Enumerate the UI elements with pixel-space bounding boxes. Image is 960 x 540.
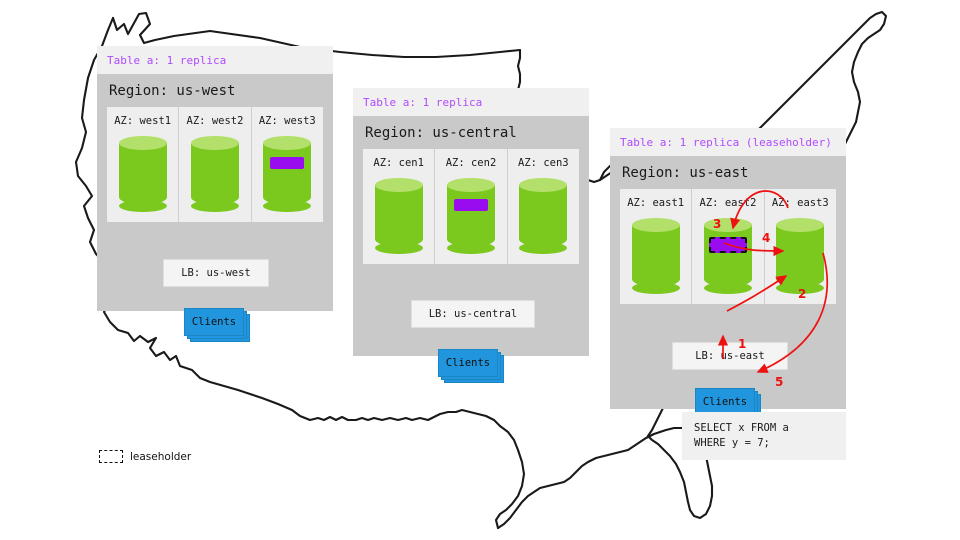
- panel-body-us-west: Region: us-west AZ: west1 AZ: west2 AZ: …: [97, 74, 333, 311]
- diagram-canvas: Table a: 1 replica Region: us-west AZ: w…: [0, 0, 960, 540]
- az-cen3[interactable]: AZ: cen3: [508, 149, 579, 264]
- az-east2[interactable]: AZ: east2: [692, 189, 764, 304]
- region-panel-us-central: Table a: 1 replica Region: us-central AZ…: [353, 88, 589, 356]
- node-cylinder-icon: [704, 218, 752, 294]
- region-label-us-east: Region: us-east: [610, 156, 846, 189]
- az-west1[interactable]: AZ: west1: [107, 107, 179, 222]
- az-label: AZ: west3: [259, 115, 316, 127]
- az-label: AZ: west1: [114, 115, 171, 127]
- panel-body-us-east: Region: us-east AZ: east1 AZ: east2: [610, 156, 846, 409]
- az-label: AZ: cen3: [518, 157, 569, 169]
- node-cylinder-icon: [519, 178, 567, 254]
- leaseholder-replica-marker: [709, 237, 747, 253]
- node-cylinder-icon: [191, 136, 239, 212]
- panel-title-us-central: Table a: 1 replica: [353, 88, 589, 116]
- region-panel-us-west: Table a: 1 replica Region: us-west AZ: w…: [97, 46, 333, 311]
- panel-title-us-east: Table a: 1 replica (leaseholder): [610, 128, 846, 156]
- az-label: AZ: cen1: [373, 157, 424, 169]
- replica-marker: [454, 199, 488, 211]
- load-balancer-us-east[interactable]: LB: us-east: [672, 342, 788, 370]
- az-label: AZ: east3: [772, 197, 829, 209]
- load-balancer-us-west[interactable]: LB: us-west: [163, 259, 269, 287]
- clients-label: Clients: [438, 349, 498, 377]
- node-cylinder-icon: [119, 136, 167, 212]
- clients-us-west[interactable]: Clients: [184, 308, 242, 334]
- step-number-3: 3: [713, 217, 721, 231]
- region-label-us-west: Region: us-west: [97, 74, 333, 107]
- region-panel-us-east: Table a: 1 replica (leaseholder) Region:…: [610, 128, 846, 409]
- panel-title-us-west: Table a: 1 replica: [97, 46, 333, 74]
- clients-label: Clients: [184, 308, 244, 336]
- region-label-us-central: Region: us-central: [353, 116, 589, 149]
- step-number-2: 2: [798, 287, 806, 301]
- az-label: AZ: west2: [187, 115, 244, 127]
- az-label: AZ: east2: [700, 197, 757, 209]
- replica-marker: [270, 157, 304, 169]
- az-row-us-central: AZ: cen1 AZ: cen2 AZ: cen3: [363, 149, 579, 264]
- az-west3[interactable]: AZ: west3: [252, 107, 323, 222]
- legend-label: leaseholder: [130, 451, 191, 463]
- step-number-1: 1: [738, 337, 746, 351]
- load-balancer-us-central[interactable]: LB: us-central: [411, 300, 535, 328]
- clients-us-east[interactable]: Clients: [695, 388, 753, 414]
- leaseholder-swatch-icon: [99, 450, 123, 463]
- node-cylinder-icon: [375, 178, 423, 254]
- az-label: AZ: east1: [627, 197, 684, 209]
- node-cylinder-icon: [632, 218, 680, 294]
- step-number-4: 4: [762, 231, 770, 245]
- az-east1[interactable]: AZ: east1: [620, 189, 692, 304]
- sql-query-box: SELECT x FROM a WHERE y = 7;: [682, 412, 846, 460]
- node-cylinder-icon: [263, 136, 311, 212]
- node-cylinder-icon: [447, 178, 495, 254]
- panel-body-us-central: Region: us-central AZ: cen1 AZ: cen2: [353, 116, 589, 356]
- legend-leaseholder: leaseholder: [99, 450, 191, 463]
- az-label: AZ: cen2: [446, 157, 497, 169]
- clients-us-central[interactable]: Clients: [438, 349, 496, 375]
- node-cylinder-icon: [776, 218, 824, 294]
- az-cen1[interactable]: AZ: cen1: [363, 149, 435, 264]
- az-cen2[interactable]: AZ: cen2: [435, 149, 507, 264]
- step-number-5: 5: [775, 375, 783, 389]
- az-west2[interactable]: AZ: west2: [179, 107, 251, 222]
- az-row-us-west: AZ: west1 AZ: west2 AZ: west3: [107, 107, 323, 222]
